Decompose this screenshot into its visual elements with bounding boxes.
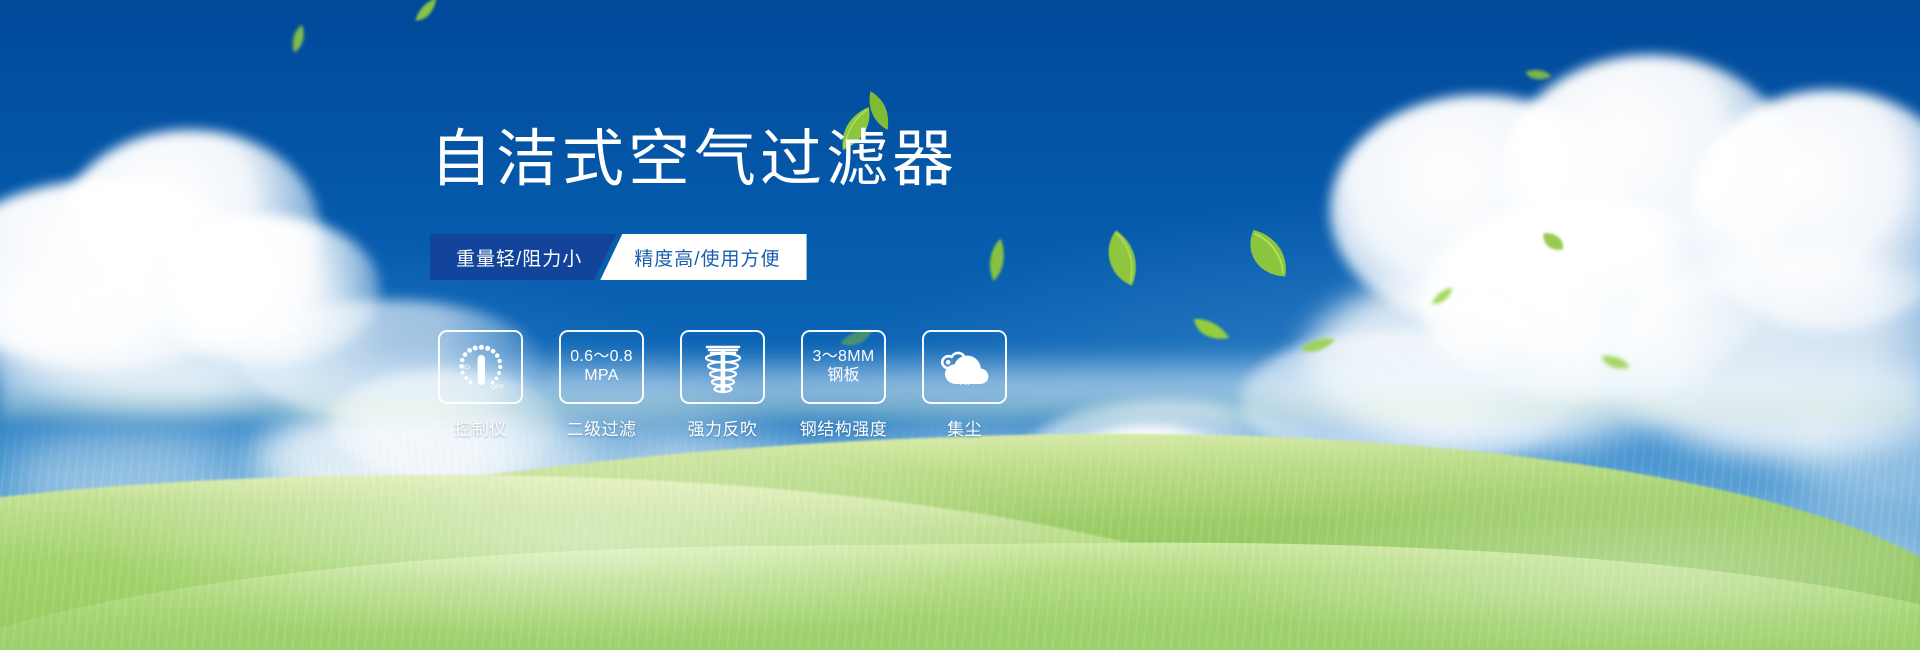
control-dial-icon: NO OFF [450, 339, 512, 395]
steel-thickness: 3～8MM [813, 348, 875, 367]
hero-banner: 自洁式空气过滤器 重量轻/阻力小 精度高/使用方便 [0, 0, 1920, 650]
coil-blowback-icon [697, 339, 749, 395]
feature-label: 集尘 [947, 415, 982, 440]
dial-on-label: NO [460, 364, 470, 371]
air-cloud-icon: Air [936, 348, 994, 386]
feature-icon-box: Air [922, 330, 1007, 404]
feature-item[interactable]: 强力反吹 [680, 330, 765, 440]
feature-item[interactable]: 3～8MM 钢板 钢结构强度 [801, 330, 886, 440]
feature-label: 强力反吹 [688, 415, 758, 440]
feature-label: 二级过滤 [567, 415, 637, 440]
tag-precision-convenience: 精度高/使用方便 [600, 234, 806, 280]
feature-item[interactable]: NO OFF 控制仪 [438, 330, 523, 440]
banner-content: 自洁式空气过滤器 重量轻/阻力小 精度高/使用方便 [0, 0, 1920, 650]
pressure-range: 0.6～0.8 [570, 348, 633, 367]
feature-item[interactable]: Air 集尘 [922, 330, 1007, 440]
page-title: 自洁式空气过滤器 [430, 128, 958, 190]
steel-material: 钢板 [813, 367, 875, 386]
pressure-text-icon: 0.6～0.8 MPA [570, 348, 633, 386]
feature-list: NO OFF 控制仪 0.6～0.8 MPA 二级过滤 [438, 330, 1007, 440]
feature-label: 钢结构强度 [800, 415, 888, 440]
feature-icon-box: NO OFF [438, 330, 523, 404]
tag-weight-resistance: 重量轻/阻力小 [430, 234, 616, 280]
steel-plate-text-icon: 3～8MM 钢板 [813, 348, 875, 386]
feature-icon-box: 3～8MM 钢板 [801, 330, 886, 404]
feature-icon-box: 0.6～0.8 MPA [559, 330, 644, 404]
tag-bar: 重量轻/阻力小 精度高/使用方便 [430, 234, 807, 280]
pressure-unit: MPA [570, 367, 633, 386]
feature-icon-box [680, 330, 765, 404]
feature-item[interactable]: 0.6～0.8 MPA 二级过滤 [559, 330, 644, 440]
feature-label: 控制仪 [454, 415, 507, 440]
air-label: Air [959, 377, 970, 386]
dial-off-label: OFF [491, 384, 504, 391]
